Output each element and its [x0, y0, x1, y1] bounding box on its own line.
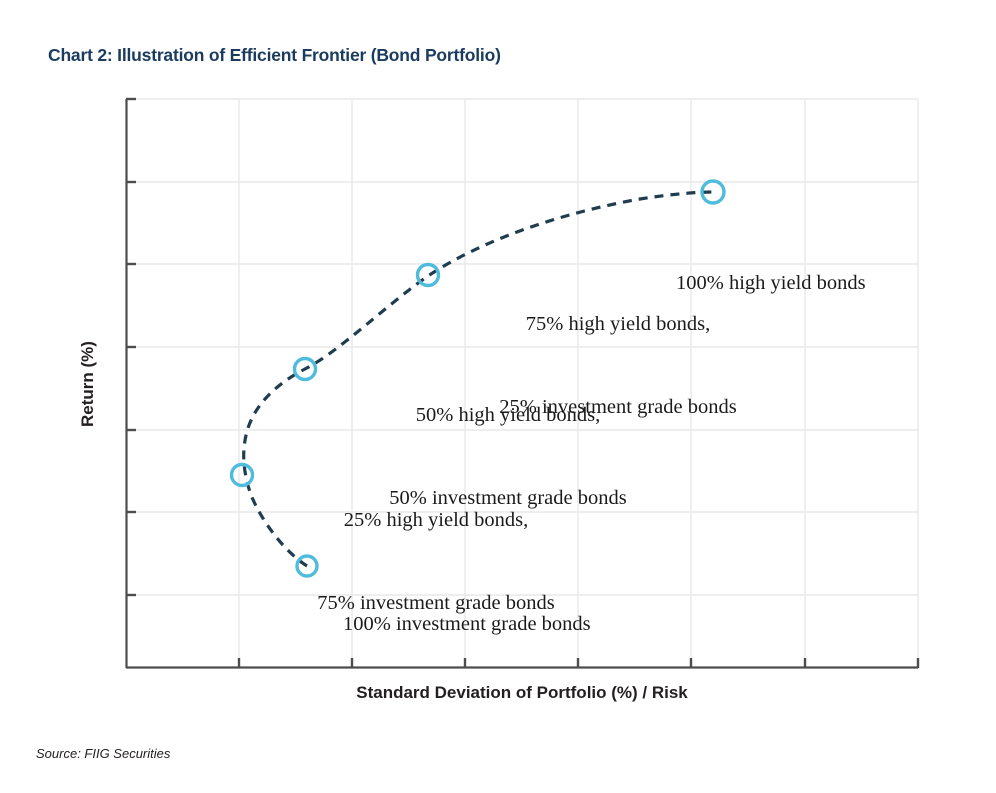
annotation-25-high-yield-line1: 25% high yield bonds, — [307, 507, 565, 535]
annotation-100-investment-grade-line1: 100% investment grade bonds — [343, 611, 591, 639]
x-axis-title: Standard Deviation of Portfolio (%) / Ri… — [126, 683, 918, 703]
page-root: Chart 2: Illustration of Efficient Front… — [0, 0, 996, 793]
y-axis-title: Return (%) — [78, 264, 98, 504]
annotation-75-high-yield-line1: 75% high yield bonds, — [489, 311, 747, 339]
annotation-100-investment-grade: 100% investment grade bonds — [343, 556, 591, 694]
chart-figure: 100% high yield bonds 75% high yield bon… — [0, 0, 996, 730]
annotation-50-high-yield-line1: 50% high yield bonds, — [379, 402, 637, 430]
source-note: Source: FIIG Securities — [36, 746, 170, 761]
